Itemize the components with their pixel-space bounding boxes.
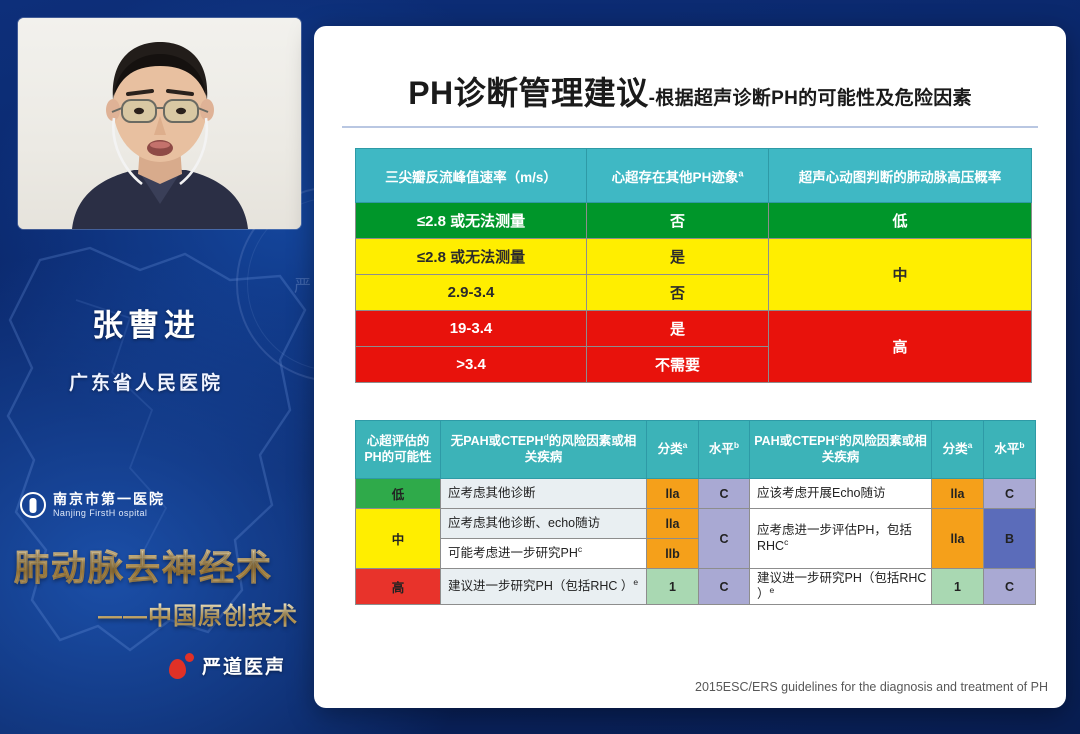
cell-other-signs: 是 — [587, 311, 769, 347]
cell-other-signs: 否 — [587, 203, 769, 239]
cell-probability: 高 — [769, 311, 1032, 383]
table-row: 中应考虑其他诊断、echo随访llaC应考虑进一步评估PH，包括RHCcllaB — [356, 509, 1036, 539]
col-header-other-signs: 心超存在其他PH迹象a — [587, 149, 769, 203]
hospital-name-en: Nanjing FirstH ospital — [53, 509, 165, 518]
presentation-slide: PH诊断管理建议-根据超声诊断PH的可能性及危险因素 三尖瓣反流峰值速率（m/s… — [314, 26, 1066, 708]
col-header-velocity: 三尖瓣反流峰值速率（m/s） — [356, 149, 587, 203]
col-header-level-1: 水平b — [699, 421, 750, 479]
cell-echo-likelihood: 中 — [356, 509, 441, 569]
slide-title-sub: -根据超声诊断PH的可能性及危险因素 — [649, 88, 972, 109]
table-row: ≤2.8 或无法测量否低 — [356, 203, 1032, 239]
management-recommendation-table: 心超评估的PH的可能性 无PAH或CTEPHd的风险因素或相关疾病 分类a 水平… — [355, 420, 1036, 605]
cell-velocity: 19-3.4 — [356, 311, 587, 347]
cell-other-signs: 是 — [587, 239, 769, 275]
cell-echo-likelihood: 低 — [356, 479, 441, 509]
brand-dots-icon — [168, 653, 196, 679]
cell-class-no-risk: 1 — [647, 569, 699, 605]
cell-probability: 低 — [769, 203, 1032, 239]
col-header-echo-likelihood: 心超评估的PH的可能性 — [356, 421, 441, 479]
speaker-name: 张曹进 — [0, 300, 292, 345]
hospital-logo: 南京市第一医院 Nanjing FirstH ospital — [20, 492, 165, 518]
slide-title-main: PH诊断管理建议 — [408, 75, 648, 111]
echo-probability-table: 三尖瓣反流峰值速率（m/s） 心超存在其他PH迹象a 超声心动图判断的肺动脉高压… — [355, 148, 1032, 383]
cell-velocity: ≤2.8 或无法测量 — [356, 239, 587, 275]
title-divider — [342, 126, 1038, 128]
table-row: 低应考虑其他诊断llaC应该考虑开展Echo随访llaC — [356, 479, 1036, 509]
cell-class-risk: lla — [932, 509, 984, 569]
table-header-row: 心超评估的PH的可能性 无PAH或CTEPHd的风险因素或相关疾病 分类a 水平… — [356, 421, 1036, 479]
col-header-class-2: 分类a — [932, 421, 984, 479]
hospital-name-cn: 南京市第一医院 — [53, 492, 165, 507]
broadcast-screen: www.drvoice.cn 严道医声 — [0, 0, 1080, 734]
program-title: 肺动脉去神经术 — [14, 540, 304, 591]
col-header-class-1: 分类a — [647, 421, 699, 479]
cell-class-no-risk: llb — [647, 539, 699, 569]
speaker-organization: 广东省人民医院 — [0, 368, 292, 395]
col-header-level-2: 水平b — [984, 421, 1036, 479]
cell-level-no-risk: C — [699, 509, 750, 569]
cell-level-no-risk: C — [699, 479, 750, 509]
cell-velocity: 2.9-3.4 — [356, 275, 587, 311]
cell-level-no-risk: C — [699, 569, 750, 605]
cell-class-risk: lla — [932, 479, 984, 509]
cell-echo-likelihood: 高 — [356, 569, 441, 605]
cell-other-signs: 不需要 — [587, 347, 769, 383]
cell-no-risk-recommendation: 应考虑其他诊断 — [441, 479, 647, 509]
cell-class-no-risk: lla — [647, 479, 699, 509]
table-row: 19-3.4是高 — [356, 311, 1032, 347]
cell-probability: 中 — [769, 239, 1032, 311]
cell-no-risk-recommendation: 建议进一步研究PH（包括RHC ）e — [441, 569, 647, 605]
cell-risk-recommendation: 应该考虑开展Echo随访 — [750, 479, 932, 509]
cell-level-risk: C — [984, 569, 1036, 605]
source-citation: 2015ESC/ERS guidelines for the diagnosis… — [695, 680, 1048, 694]
cell-velocity: >3.4 — [356, 347, 587, 383]
speaker-portrait — [18, 18, 301, 229]
table-row: ≤2.8 或无法测量是中 — [356, 239, 1032, 275]
cell-risk-recommendation: 应考虑进一步评估PH，包括RHCc — [750, 509, 932, 569]
brand-logo: 严道医声 — [168, 652, 286, 679]
cell-class-risk: 1 — [932, 569, 984, 605]
col-header-with-risk-factors: PAH或CTEPHc的风险因素或相关疾病 — [750, 421, 932, 479]
col-header-probability: 超声心动图判断的肺动脉高压概率 — [769, 149, 1032, 203]
cell-velocity: ≤2.8 或无法测量 — [356, 203, 587, 239]
cell-level-risk: B — [984, 509, 1036, 569]
col-header-no-risk-factors: 无PAH或CTEPHd的风险因素或相关疾病 — [441, 421, 647, 479]
cell-risk-recommendation: 建议进一步研究PH（包括RHC ）e — [750, 569, 932, 605]
cell-level-risk: C — [984, 479, 1036, 509]
table-header-row: 三尖瓣反流峰值速率（m/s） 心超存在其他PH迹象a 超声心动图判断的肺动脉高压… — [356, 149, 1032, 203]
hospital-logo-icon — [20, 492, 46, 518]
cell-no-risk-recommendation: 可能考虑进一步研究PHc — [441, 539, 647, 569]
cell-class-no-risk: lla — [647, 509, 699, 539]
cell-other-signs: 否 — [587, 275, 769, 311]
program-subtitle: ——中国原创技术 — [14, 596, 304, 631]
brand-name: 严道医声 — [202, 652, 286, 679]
cell-no-risk-recommendation: 应考虑其他诊断、echo随访 — [441, 509, 647, 539]
speaker-video-tile[interactable] — [18, 18, 301, 229]
page-title: PH诊断管理建议-根据超声诊断PH的可能性及危险因素 — [314, 68, 1066, 114]
table-row: 高建议进一步研究PH（包括RHC ）e1C建议进一步研究PH（包括RHC ）e1… — [356, 569, 1036, 605]
